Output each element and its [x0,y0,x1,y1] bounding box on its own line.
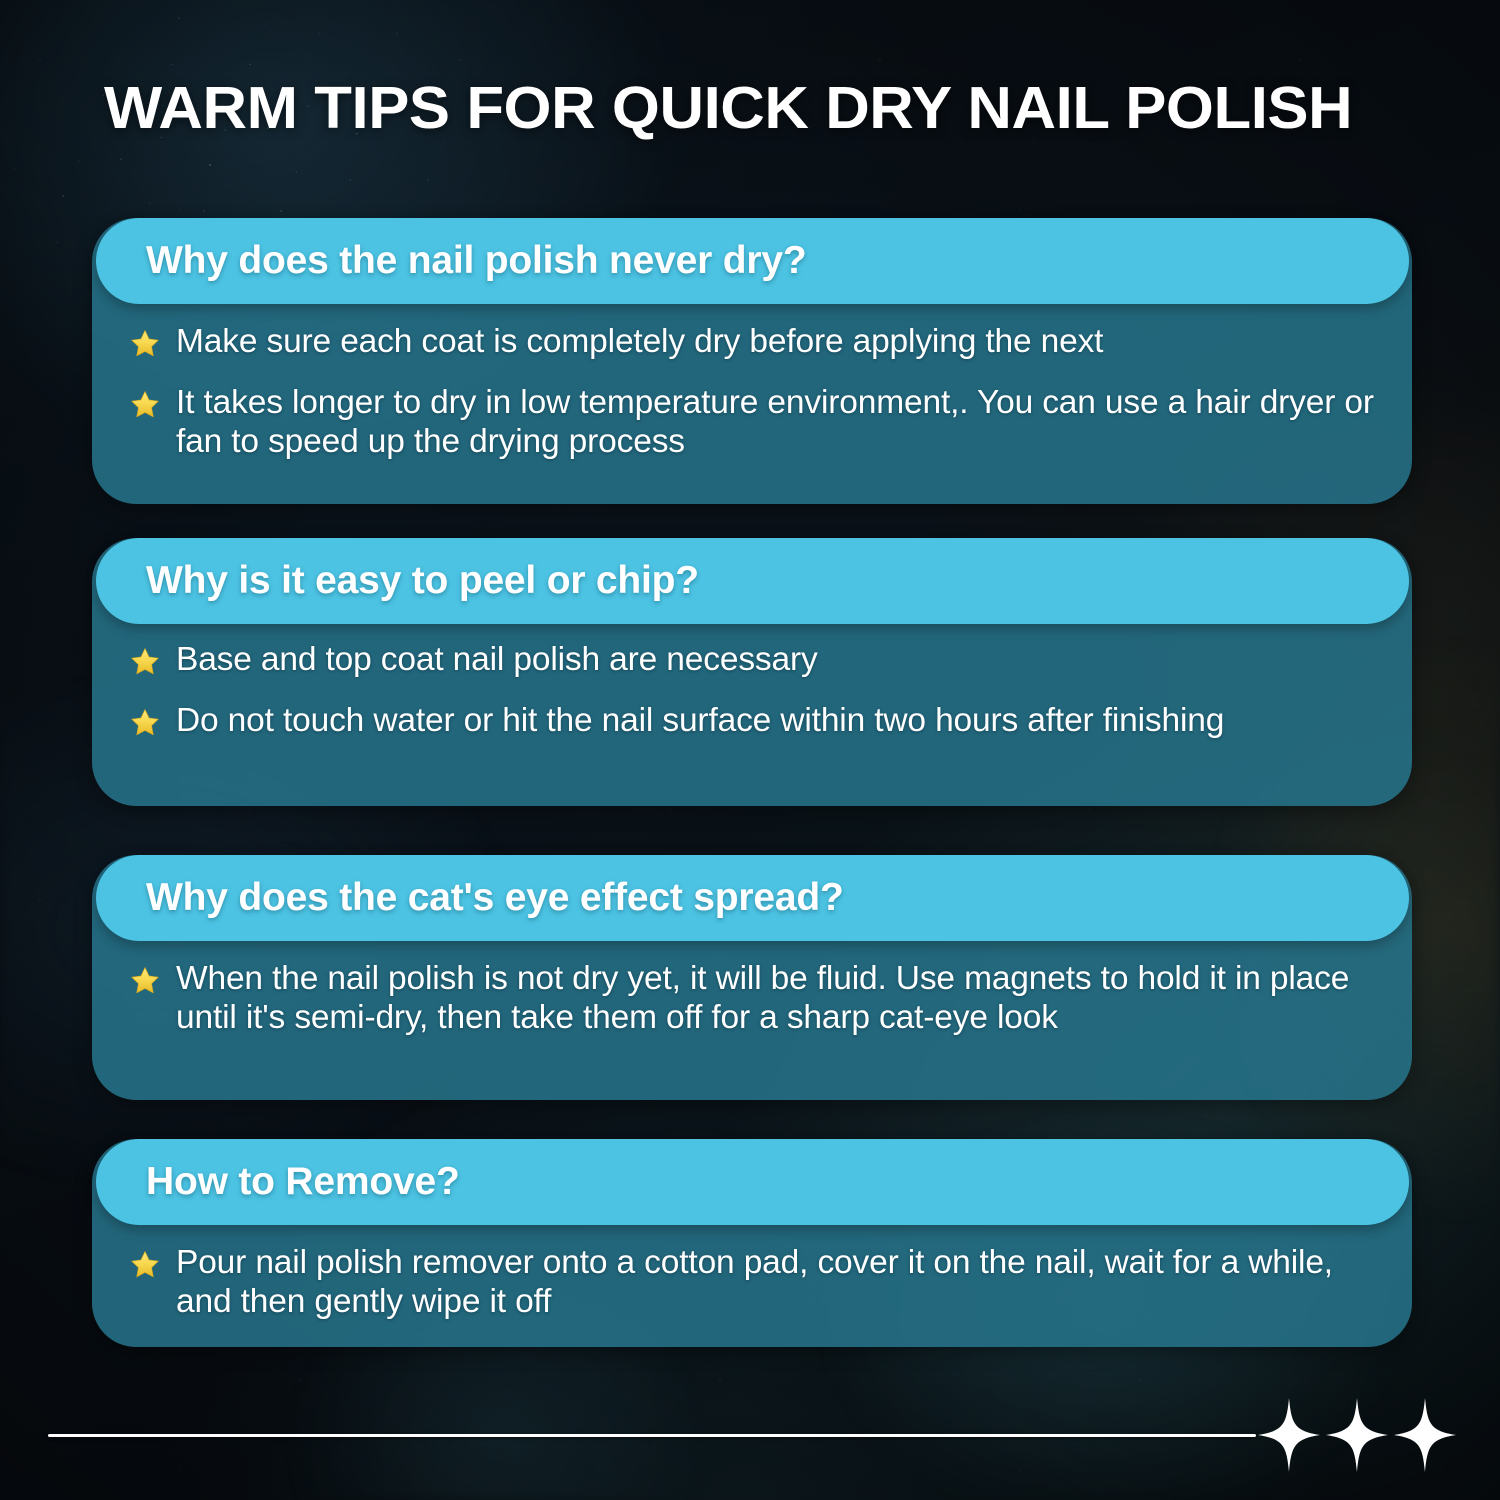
page-title: WARM TIPS FOR QUICK DRY NAIL POLISH [104,78,1473,138]
faq-bullet-list: When the nail polish is not dry yet, it … [92,959,1412,1037]
faq-section-header-label: How to Remove? [146,1160,460,1204]
faq-section-header[interactable]: Why does the cat's eye effect spread? [96,855,1409,941]
faq-section-header[interactable]: Why is it easy to peel or chip? [96,538,1409,624]
faq-bullet-text: When the nail polish is not dry yet, it … [176,959,1392,1037]
faq-section: Why does the nail polish never dry?Make … [92,218,1412,504]
faq-bullet-text: It takes longer to dry in low temperatur… [176,383,1392,461]
star-bullet-icon [130,329,160,359]
faq-bullet-item: Base and top coat nail polish are necess… [92,640,1412,679]
faq-bullet-text: Base and top coat nail polish are necess… [176,640,818,679]
four-point-sparkle-icon [1394,1398,1456,1472]
faq-section-header-label: Why is it easy to peel or chip? [146,559,699,603]
faq-section: How to Remove?Pour nail polish remover o… [92,1139,1412,1347]
faq-section-header-label: Why does the nail polish never dry? [146,239,806,283]
footer-sparkles [1258,1398,1460,1472]
star-bullet-icon [130,647,160,677]
faq-section-header[interactable]: How to Remove? [96,1139,1409,1225]
star-bullet-icon [130,329,160,359]
faq-section: Why does the cat's eye effect spread?Whe… [92,855,1412,1100]
star-bullet-icon [130,390,160,420]
faq-bullet-item: Make sure each coat is completely dry be… [92,322,1412,361]
faq-bullet-item: Do not touch water or hit the nail surfa… [92,701,1412,740]
star-bullet-icon [130,708,160,738]
star-bullet-icon [130,966,160,996]
poster-canvas: WARM TIPS FOR QUICK DRY NAIL POLISH Why … [0,0,1500,1500]
faq-bullet-list: Make sure each coat is completely dry be… [92,322,1412,461]
faq-bullet-item: It takes longer to dry in low temperatur… [92,383,1412,461]
four-point-sparkle-icon [1326,1398,1388,1472]
faq-bullet-text: Do not touch water or hit the nail surfa… [176,701,1224,740]
star-bullet-icon [130,966,160,996]
faq-section-header[interactable]: Why does the nail polish never dry? [96,218,1409,304]
faq-bullet-item: When the nail polish is not dry yet, it … [92,959,1412,1037]
faq-bullet-list: Base and top coat nail polish are necess… [92,640,1412,740]
footer-divider [48,1434,1256,1437]
four-point-sparkle-icon [1258,1398,1320,1472]
star-bullet-icon [130,647,160,677]
faq-bullet-text: Make sure each coat is completely dry be… [176,322,1103,361]
faq-bullet-list: Pour nail polish remover onto a cotton p… [92,1243,1412,1321]
star-bullet-icon [130,390,160,420]
faq-section: Why is it easy to peel or chip?Base and … [92,538,1412,806]
star-bullet-icon [130,708,160,738]
faq-section-header-label: Why does the cat's eye effect spread? [146,876,844,920]
star-bullet-icon [130,1250,160,1280]
faq-bullet-item: Pour nail polish remover onto a cotton p… [92,1243,1412,1321]
star-bullet-icon [130,1250,160,1280]
faq-bullet-text: Pour nail polish remover onto a cotton p… [176,1243,1392,1321]
